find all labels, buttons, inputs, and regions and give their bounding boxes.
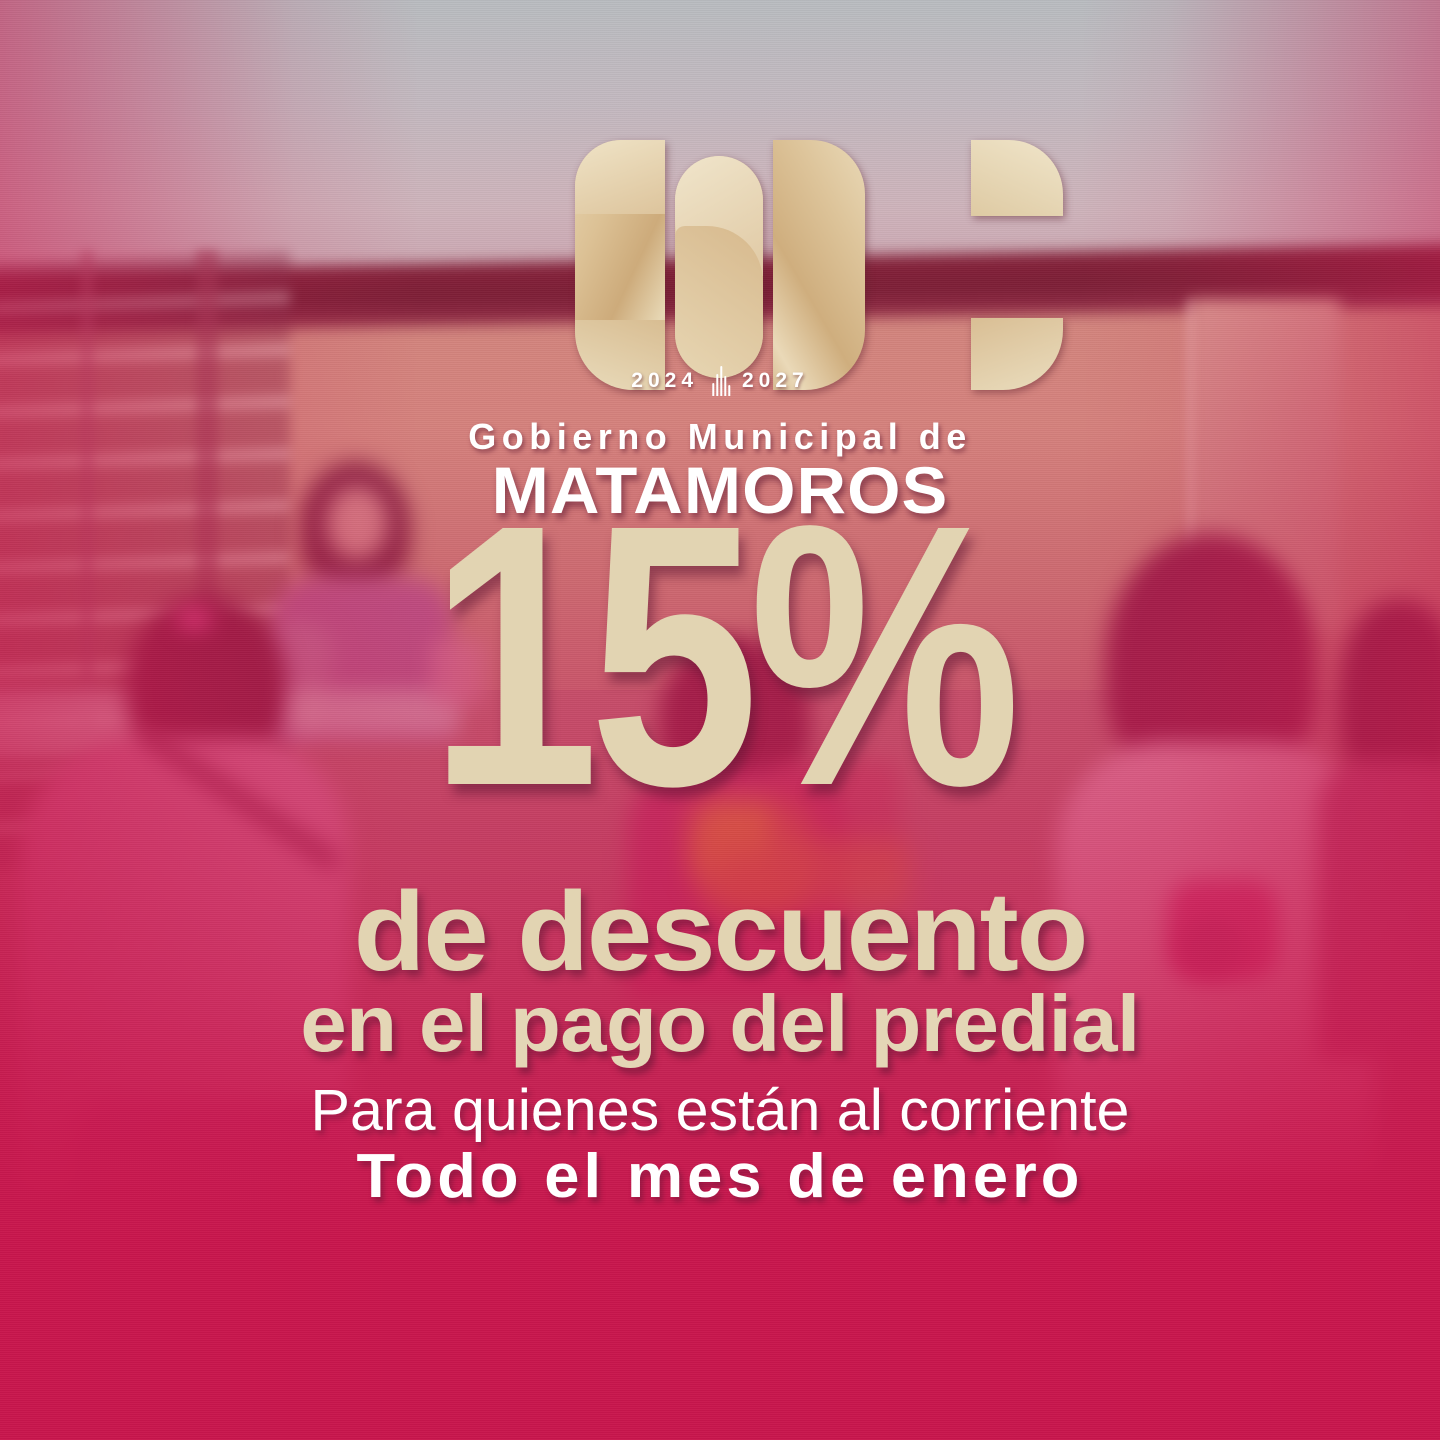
- tower-ornament-icon: [710, 366, 730, 396]
- discount-label: de descuento: [354, 876, 1087, 988]
- matamoros-monogram-logo: [575, 140, 865, 396]
- eligibility-note: Para quienes están al corriente: [311, 1082, 1130, 1140]
- logo-pillar-left-cap: [575, 140, 665, 214]
- administration-term: 2024 2027: [631, 366, 808, 396]
- term-start-year: 2024: [631, 369, 698, 393]
- poster-content: 2024 2027 Gobierno Municipal de MATAMORO…: [0, 0, 1440, 1440]
- period-note: Todo el mes de enero: [356, 1146, 1083, 1208]
- logo-pillar-right-foot: [971, 318, 1063, 390]
- property-tax-label: en el pago del predial: [300, 984, 1139, 1064]
- discount-percent: 15%: [429, 469, 1011, 841]
- poster-canvas: 2024 2027 Gobierno Municipal de MATAMORO…: [0, 0, 1440, 1440]
- term-end-year: 2027: [742, 369, 809, 393]
- logo-pillar-right-cap: [971, 140, 1063, 216]
- logo-center-arc-lower: [675, 226, 763, 378]
- logo-pillar-right: [773, 140, 865, 390]
- logo-pillar-left: [575, 140, 665, 390]
